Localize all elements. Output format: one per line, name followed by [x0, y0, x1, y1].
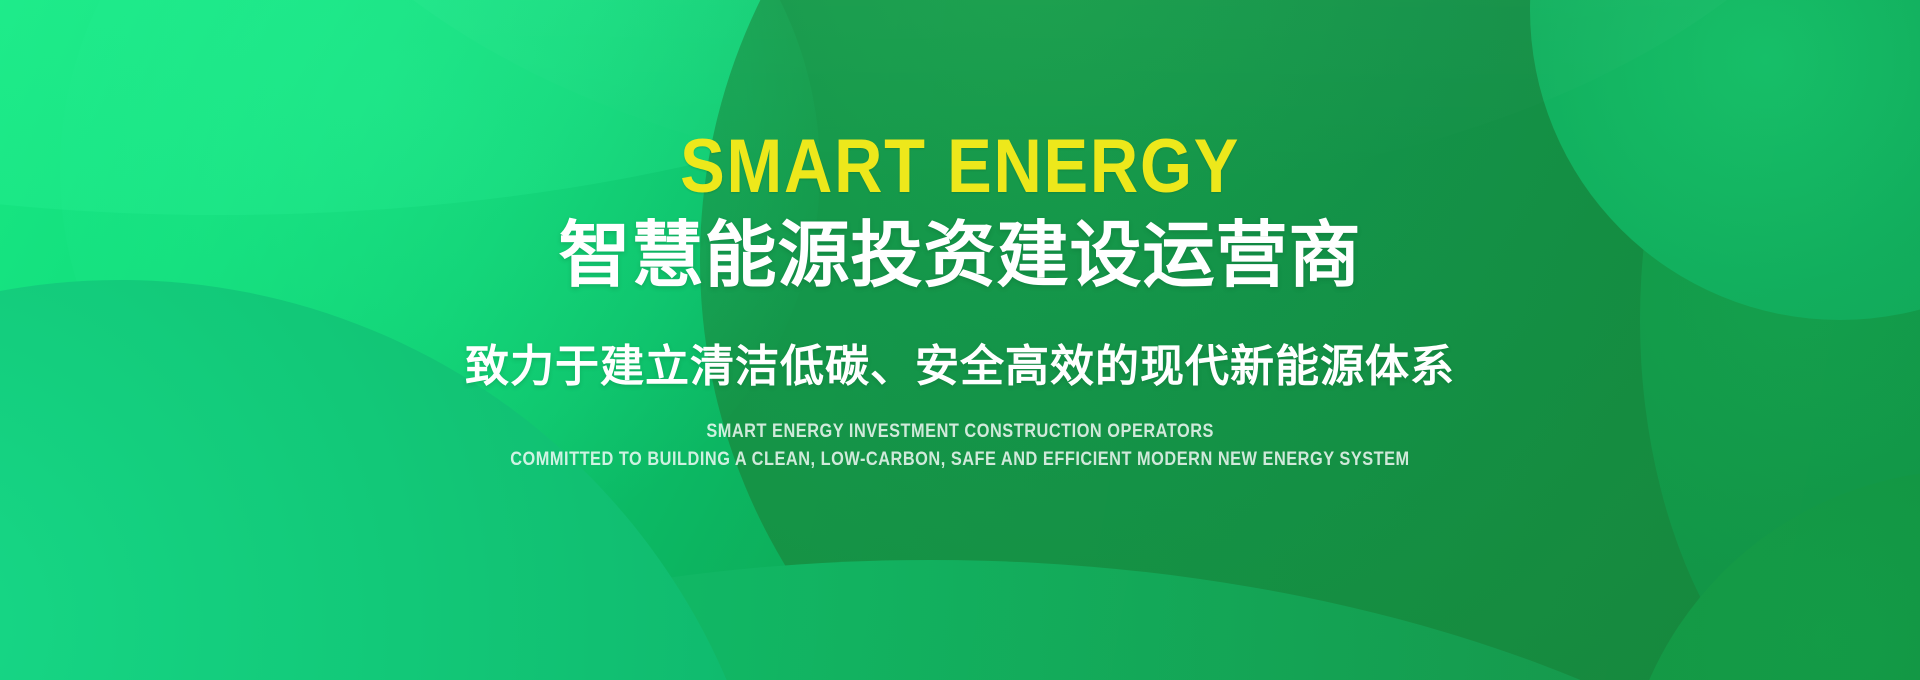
banner-tagline-group: SMART ENERGY INVESTMENT CONSTRUCTION OPE…	[437, 421, 1483, 471]
smart-energy-banner: SMART ENERGY 智慧能源投资建设运营商 致力于建立清洁低碳、安全高效的…	[0, 0, 1920, 680]
banner-tagline-english-secondary: COMMITTED TO BUILDING A CLEAN, LOW-CARBO…	[510, 449, 1409, 471]
banner-title-chinese: 智慧能源投资建设运营商	[558, 218, 1361, 294]
banner-tagline-english-primary: SMART ENERGY INVESTMENT CONSTRUCTION OPE…	[706, 421, 1214, 443]
banner-content: SMART ENERGY 智慧能源投资建设运营商 致力于建立清洁低碳、安全高效的…	[0, 0, 1920, 680]
banner-subtitle-chinese: 致力于建立清洁低碳、安全高效的现代新能源体系	[465, 343, 1455, 391]
banner-title-english: SMART ENERGY	[680, 130, 1240, 204]
